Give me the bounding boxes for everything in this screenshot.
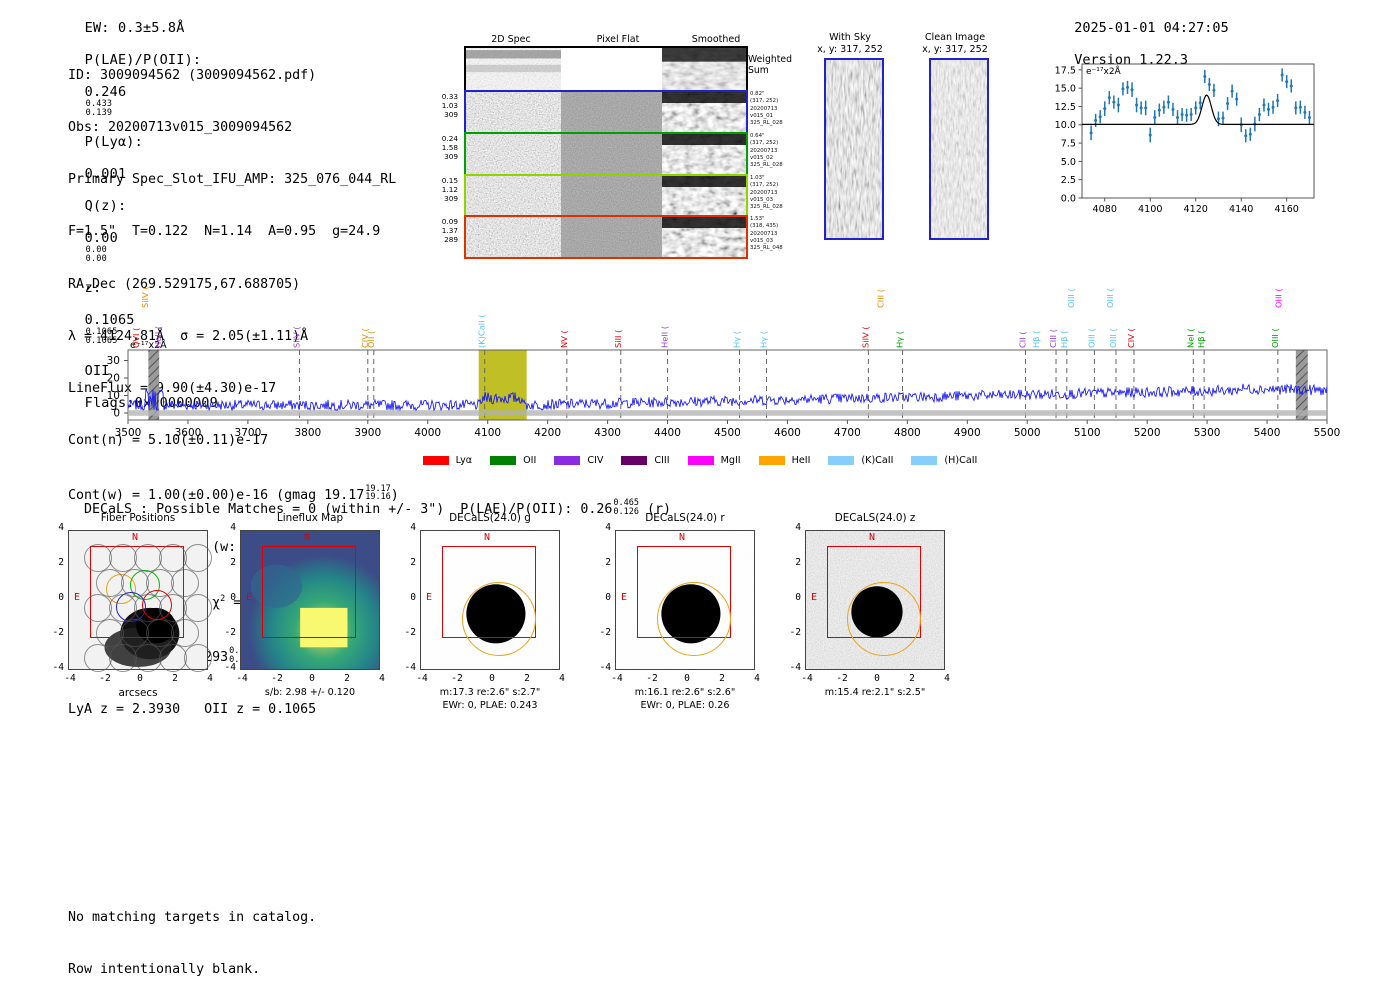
fiber-outline — [84, 594, 112, 622]
svg-text:17.5: 17.5 — [1055, 65, 1076, 76]
fiber-outline — [84, 544, 112, 572]
x-tick-label: 0 — [302, 673, 322, 684]
y-tick-label: 2 — [46, 557, 64, 568]
y-tick-label: 4 — [593, 522, 611, 533]
emission-line-label: CIV ( — [360, 328, 370, 348]
legend-entry: (H)CaII — [911, 455, 977, 467]
emission-line-label: NeI ( — [1185, 328, 1195, 348]
y-tick-label: 4 — [398, 522, 416, 533]
svg-text:20: 20 — [107, 373, 120, 385]
svg-text:3800: 3800 — [294, 427, 321, 439]
compass-north-label: N — [484, 532, 490, 543]
x-tick-label: 4 — [747, 673, 767, 684]
svg-text:5200: 5200 — [1134, 427, 1161, 439]
legend-entry: (K)CaII — [828, 455, 893, 467]
timestamp: 2025-01-01 04:27:05 — [1074, 20, 1228, 36]
emission-line-label: OIII ( — [1086, 328, 1096, 348]
fiber-row-values: 0.09 1.37 289 — [430, 217, 458, 245]
fiber-row-values: 0.24 1.58 309 — [430, 134, 458, 162]
y-tick-label: 2 — [398, 557, 416, 568]
aperture-circle — [462, 582, 536, 656]
x-tick-label: -2 — [95, 673, 115, 684]
y-tick-label: -2 — [593, 627, 611, 638]
fiber-outline — [171, 569, 199, 597]
y-tick-label: 4 — [218, 522, 236, 533]
emission-line-label: SiIV ( — [860, 326, 870, 348]
fiber-outline — [184, 544, 212, 572]
svg-text:4000: 4000 — [414, 427, 441, 439]
svg-text:4500: 4500 — [714, 427, 741, 439]
emission-line-label: Hγ ( — [758, 331, 768, 348]
svg-text:5000: 5000 — [1014, 427, 1041, 439]
x-tick-label: -4 — [797, 673, 817, 684]
info-obs: Obs: 20200713v015_3009094562 — [68, 119, 399, 136]
legend-label: CIV — [587, 455, 603, 466]
decals-panel-title: Fiber Positions — [48, 512, 228, 524]
emission-line-label: OVI ( — [131, 328, 141, 348]
x-tick-label: -4 — [412, 673, 432, 684]
fiber-outline — [146, 569, 174, 597]
legend-label: MgII — [721, 455, 741, 466]
legend-label: HeII — [792, 455, 811, 466]
fiber-outline — [134, 594, 162, 622]
emission-line-label: OIII ( — [1270, 328, 1280, 348]
svg-text:4200: 4200 — [534, 427, 561, 439]
svg-text:e⁻¹⁷x2Å: e⁻¹⁷x2Å — [1086, 65, 1122, 77]
weighted-sum-strip — [464, 46, 748, 92]
x-tick-label: 4 — [200, 673, 220, 684]
emission-line-label: Hβ ( — [1031, 331, 1041, 348]
legend-swatch — [688, 456, 714, 465]
footer-note: No matching targets in catalog. Row inte… — [68, 874, 316, 996]
emission-line-label: (K)CaII ( — [477, 314, 487, 348]
x-tick-label: -2 — [447, 673, 467, 684]
svg-text:5500: 5500 — [1314, 427, 1341, 439]
svg-text:4300: 4300 — [594, 427, 621, 439]
svg-text:4900: 4900 — [954, 427, 981, 439]
legend-label: CIII — [654, 455, 669, 466]
svg-text:30: 30 — [107, 355, 120, 367]
line-fit-plot: 0.02.55.07.510.012.515.017.5408041004120… — [1040, 56, 1320, 224]
fiber-2dspec — [466, 92, 561, 132]
decals-panel-title: DECaLS(24.0) z — [785, 512, 965, 524]
fiber-outline — [121, 569, 149, 597]
svg-text:3700: 3700 — [235, 427, 262, 439]
aperture-circle — [847, 582, 921, 656]
fiber-outline — [159, 644, 187, 672]
emission-line-label: SiII ( — [613, 330, 623, 348]
fiber-row-values: 0.15 1.12 309 — [430, 176, 458, 204]
x-tick-label: -4 — [607, 673, 627, 684]
fiber-outline — [134, 644, 162, 672]
svg-text:4120: 4120 — [1184, 204, 1208, 215]
y-tick-label: 0 — [593, 592, 611, 603]
fiber-outline — [146, 619, 174, 647]
svg-text:10: 10 — [107, 390, 120, 402]
svg-text:4160: 4160 — [1274, 204, 1298, 215]
cutout-title-with-sky: With Skyx, y: 317, 252 — [790, 32, 910, 55]
legend-label: Lyα — [456, 455, 472, 466]
compass-east-label: E — [426, 592, 432, 603]
svg-text:0.0: 0.0 — [1061, 193, 1076, 204]
y-tick-label: 4 — [46, 522, 64, 533]
y-tick-label: 0 — [46, 592, 64, 603]
full-spectrum-svg: 0102030350036003700380039004000410042004… — [0, 262, 1400, 462]
y-tick-label: -4 — [398, 662, 416, 673]
decals-panel-caption: m:15.4 re:2.1" s:2.5" — [775, 687, 975, 698]
decals-panel-caption: m:16.1 re:2.6" s:2.6" — [585, 687, 785, 698]
y-tick-label: -2 — [783, 627, 801, 638]
legend-label: (K)CaII — [861, 455, 893, 466]
svg-text:4700: 4700 — [834, 427, 861, 439]
legend-entry: MgII — [688, 455, 741, 467]
fiber-outline — [109, 594, 137, 622]
svg-text:4600: 4600 — [774, 427, 801, 439]
svg-text:4100: 4100 — [1138, 204, 1162, 215]
cutout-with-sky — [824, 58, 884, 240]
decals-panel-caption: m:17.3 re:2.6" s:2.7" — [390, 687, 590, 698]
fiber-row-meta: 0.64" (317, 252) 20200713 v015_02 325_RL… — [750, 133, 783, 169]
fiber-row — [464, 215, 748, 259]
fiber-outline — [109, 644, 137, 672]
fiber-smoothed — [662, 92, 746, 132]
compass-east-label: E — [811, 592, 817, 603]
fiber-outline — [109, 544, 137, 572]
emission-line-label: SiIV ( — [291, 326, 301, 348]
svg-text:4800: 4800 — [894, 427, 921, 439]
x-tick-label: -4 — [60, 673, 80, 684]
svg-text:5.0: 5.0 — [1061, 157, 1076, 168]
fiber-outline — [159, 544, 187, 572]
emission-line-label: OIII ( — [1105, 288, 1115, 308]
footer-line-1: No matching targets in catalog. — [68, 909, 316, 926]
x-tick-label: 4 — [552, 673, 572, 684]
svg-text:3900: 3900 — [354, 427, 381, 439]
x-tick-label: 0 — [130, 673, 150, 684]
legend-entry: Lyα — [423, 455, 472, 467]
y-tick-label: 2 — [218, 557, 236, 568]
decals-panel-caption-2: EWr: 0, PLAE: 0.26 — [585, 700, 785, 711]
emission-line-label: OIII ( — [1066, 288, 1076, 308]
footer-line-2: Row intentionally blank. — [68, 961, 316, 978]
fiber-pixelflat — [561, 217, 662, 257]
emission-line-label: OIII ( — [1108, 328, 1118, 348]
fiber-outline — [121, 619, 149, 647]
svg-text:3500: 3500 — [115, 427, 142, 439]
svg-text:4400: 4400 — [654, 427, 681, 439]
legend-entry: OII — [490, 455, 536, 467]
svg-text:4100: 4100 — [474, 427, 501, 439]
emission-line-label: Hβ ( — [1196, 331, 1206, 348]
fiber-outline — [184, 644, 212, 672]
info-params: F=1.5" T=0.122 N=1.14 A=0.95 g=24.9 — [68, 223, 399, 240]
emission-line-label: CIII ( — [875, 289, 885, 308]
svg-text:10.0: 10.0 — [1055, 120, 1076, 131]
emission-line-label: OIII ( — [1273, 288, 1283, 308]
fiber-row-meta: 1.03" (317, 252) 20200713 v015_03 325_RL… — [750, 175, 783, 211]
svg-text:7.5: 7.5 — [1061, 138, 1076, 149]
compass-north-label: N — [132, 532, 138, 543]
x-tick-label: 2 — [337, 673, 357, 684]
fiber-outline — [84, 644, 112, 672]
legend-entry: HeII — [759, 455, 811, 467]
legend-swatch — [828, 456, 854, 465]
svg-text:4080: 4080 — [1093, 204, 1117, 215]
decals-panel-title: DECaLS(24.0) g — [400, 512, 580, 524]
fiber-2dspec — [466, 134, 561, 174]
fiber-2dspec — [466, 217, 561, 257]
fiber-outline — [159, 594, 187, 622]
fiber-pixelflat — [561, 134, 662, 174]
ws-smoothed — [662, 48, 746, 90]
fiber-smoothed — [662, 176, 746, 216]
emission-line-label: NV ( — [559, 330, 569, 348]
ws-2dspec — [466, 48, 561, 90]
svg-text:0: 0 — [113, 408, 120, 420]
line-fit-svg: 0.02.55.07.510.012.515.017.5408041004120… — [1040, 56, 1320, 224]
emission-line-label: CIII ( — [1048, 329, 1058, 348]
y-tick-label: -4 — [593, 662, 611, 673]
spec2d-title-pixelflat: Pixel Flat — [573, 34, 663, 45]
svg-text:12.5: 12.5 — [1055, 102, 1076, 113]
compass-east-label: E — [621, 592, 627, 603]
x-tick-label: 2 — [517, 673, 537, 684]
fiber-smoothed — [662, 217, 746, 257]
fiber-row-meta: 1.53" (318, 435) 20200713 v015_03 325_RL… — [750, 216, 783, 252]
y-tick-label: -2 — [218, 627, 236, 638]
y-tick-label: -4 — [46, 662, 64, 673]
x-tick-label: -2 — [267, 673, 287, 684]
legend-swatch — [554, 456, 580, 465]
svg-text:5100: 5100 — [1074, 427, 1101, 439]
decals-panel-title: Lineflux Map — [220, 512, 400, 524]
fiber-row — [464, 90, 748, 134]
legend-swatch — [621, 456, 647, 465]
legend-entry: CIV — [554, 455, 603, 467]
compass-north-label: N — [304, 532, 310, 543]
fiber-row — [464, 132, 748, 176]
svg-text:2.5: 2.5 — [1061, 175, 1076, 186]
full-spectrum-panel: 0102030350036003700380039004000410042004… — [0, 262, 1400, 462]
compass-east-label: E — [74, 592, 80, 603]
svg-text:5300: 5300 — [1194, 427, 1221, 439]
y-tick-label: -4 — [218, 662, 236, 673]
legend-entry: CIII — [621, 455, 669, 467]
spectrum-legend: LyαOIICIVCIIIMgIIHeII(K)CaII(H)CaII — [0, 448, 1400, 467]
legend-label: OII — [523, 455, 536, 466]
svg-text:15.0: 15.0 — [1055, 84, 1076, 95]
fiber-pixelflat — [561, 92, 662, 132]
compass-north-label: N — [679, 532, 685, 543]
fiber-pixelflat — [561, 176, 662, 216]
svg-text:4140: 4140 — [1229, 204, 1253, 215]
emission-line-label: HeII ( — [660, 326, 670, 348]
x-tick-label: 0 — [482, 673, 502, 684]
compass-north-label: N — [869, 532, 875, 543]
emission-line-label: HeII ( — [153, 326, 163, 348]
fiber-outline — [96, 619, 124, 647]
spec2d-title-smoothed: Smoothed — [671, 34, 761, 45]
cutout-title-clean-image: Clean Imagex, y: 317, 252 — [895, 32, 1015, 55]
y-tick-label: 0 — [218, 592, 236, 603]
emission-line-label: Hβ ( — [1059, 331, 1069, 348]
y-tick-label: 4 — [783, 522, 801, 533]
svg-text:5400: 5400 — [1254, 427, 1281, 439]
y-tick-label: -4 — [783, 662, 801, 673]
x-tick-label: 0 — [677, 673, 697, 684]
decals-panel-caption-2: EWr: 0, PLAE: 0.243 — [390, 700, 590, 711]
x-tick-label: 2 — [712, 673, 732, 684]
emission-line-label: Hγ ( — [895, 331, 905, 348]
legend-label: (H)CaII — [944, 455, 977, 466]
fiber-outline — [171, 619, 199, 647]
legend-swatch — [911, 456, 937, 465]
spec2d-title-2dspec: 2D Spec — [466, 34, 556, 45]
x-tick-label: 2 — [165, 673, 185, 684]
emission-line-label: SiIV ( — [140, 286, 150, 308]
x-axis-label: arcsecs — [68, 687, 208, 699]
decals-red-box — [262, 546, 356, 638]
fiber-outline — [96, 569, 124, 597]
svg-text:3600: 3600 — [175, 427, 202, 439]
info-redshifts: LyA z = 2.3930 OII z = 0.1065 — [68, 701, 399, 718]
fiber-outline — [134, 544, 162, 572]
y-tick-label: 0 — [398, 592, 416, 603]
emission-line-label: CIV ( — [1126, 328, 1136, 348]
x-tick-label: 4 — [372, 673, 392, 684]
y-tick-label: 2 — [783, 557, 801, 568]
cutout-clean-image — [929, 58, 989, 240]
info-spec-slot: Primary Spec_Slot_IFU_AMP: 325_076_044_R… — [68, 171, 399, 188]
legend-swatch — [490, 456, 516, 465]
legend-swatch — [759, 456, 785, 465]
info-id: ID: 3009094562 (3009094562.pdf) — [68, 67, 399, 84]
y-tick-label: -2 — [46, 627, 64, 638]
decals-panel-caption: s/b: 2.98 +/- 0.120 — [210, 687, 410, 698]
y-tick-label: 2 — [593, 557, 611, 568]
y-tick-label: 0 — [783, 592, 801, 603]
fiber-row-meta: 0.82" (317, 252) 20200713 v015_01 325_RL… — [750, 91, 783, 127]
x-tick-label: -4 — [232, 673, 252, 684]
fiber-outline — [184, 594, 212, 622]
aperture-circle — [657, 582, 731, 656]
x-tick-label: -2 — [642, 673, 662, 684]
x-tick-label: -2 — [832, 673, 852, 684]
ws-pixelflat — [561, 48, 662, 90]
x-tick-label: 0 — [867, 673, 887, 684]
y-tick-label: -2 — [398, 627, 416, 638]
fiber-2dspec — [466, 176, 561, 216]
x-tick-label: 2 — [902, 673, 922, 684]
weighted-sum-label: Weighted Sum — [748, 54, 792, 76]
x-tick-label: 4 — [937, 673, 957, 684]
fiber-row — [464, 174, 748, 218]
emission-line-label: Hγ ( — [731, 331, 741, 348]
fiber-smoothed — [662, 134, 746, 174]
fiber-row-values: 0.33 1.03 309 — [430, 92, 458, 120]
compass-east-label: E — [246, 592, 252, 603]
emission-line-label: CII ( — [1017, 331, 1027, 348]
decals-panel-title: DECaLS(24.0) r — [595, 512, 775, 524]
legend-swatch — [423, 456, 449, 465]
